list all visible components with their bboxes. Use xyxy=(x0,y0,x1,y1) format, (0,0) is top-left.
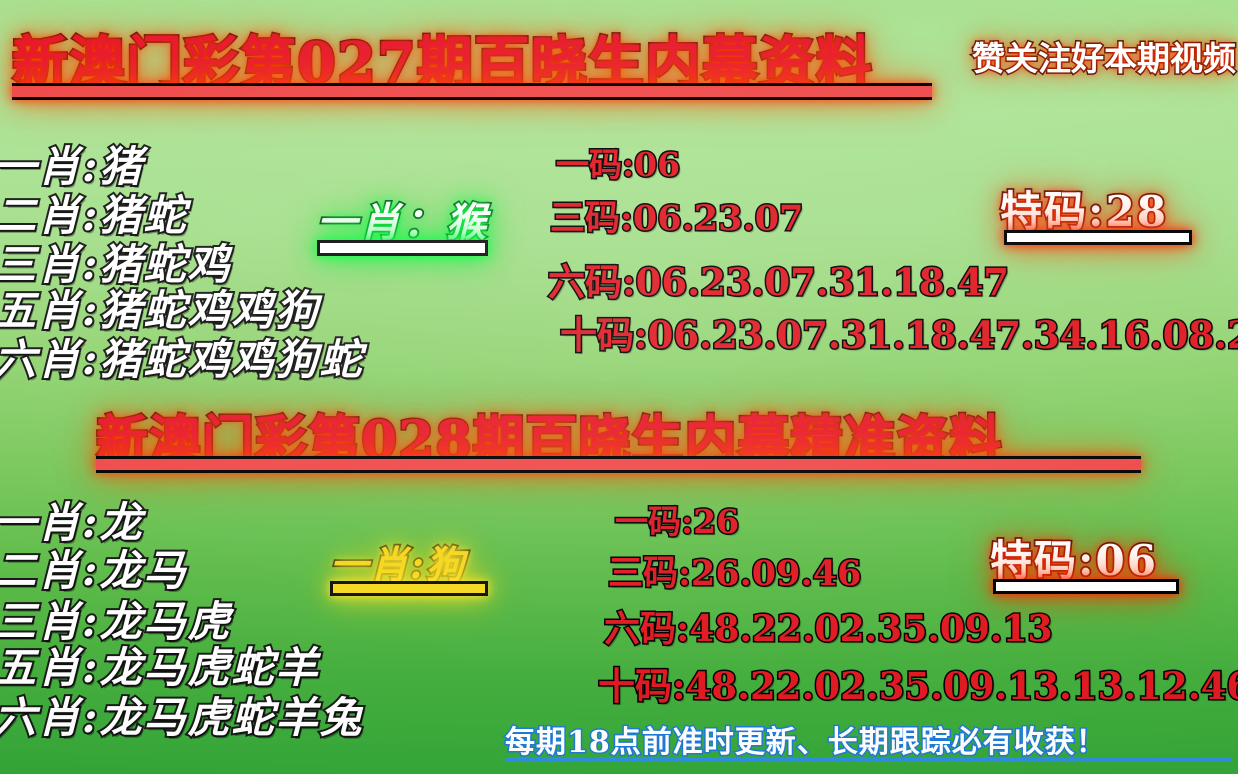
block1-code-1: 一码:06 xyxy=(556,138,680,186)
block1-code-10: 十码:06.23.07.31.18.47.34.16.08.21 xyxy=(560,305,1238,359)
block2-code-1: 一码:26 xyxy=(615,495,739,543)
footer-notice: 每期18点前准时更新、长期跟踪必有收获！ xyxy=(505,717,1107,761)
block2-zodiac-row-5: 六肖:龙马虎蛇羊兔 xyxy=(0,684,364,745)
block1-code-3: 三码:06.23.07 xyxy=(550,190,803,241)
block2-code-6: 六码:48.22.02.35.09.13 xyxy=(604,600,1053,652)
block1-promo-text: 赞关注好本期视频 xyxy=(972,32,1236,80)
block2-headline-underline xyxy=(96,456,1141,473)
block2-special-underline xyxy=(993,579,1179,594)
block2-code-10: 十码:48.22.02.35.09.13.13.12.46.26.03 xyxy=(598,656,1238,710)
poster-canvas: 新澳门彩第027期百晓生内幕资料 赞关注好本期视频 一肖:猪 二肖:猪蛇 三肖:… xyxy=(0,0,1238,774)
block1-zodiac-row-5: 六肖:猪蛇鸡鸡狗蛇 xyxy=(0,326,364,387)
block1-special-underline xyxy=(1004,230,1192,245)
block1-headline-underline xyxy=(12,83,932,100)
footer-notice-underline xyxy=(505,757,1231,762)
block2-code-3: 三码:26.09.46 xyxy=(608,545,861,596)
block1-code-6: 六码:06.23.07.31.18.47 xyxy=(548,252,1009,306)
block2-pick-underline xyxy=(330,581,488,596)
block1-pick-underline xyxy=(317,240,488,256)
